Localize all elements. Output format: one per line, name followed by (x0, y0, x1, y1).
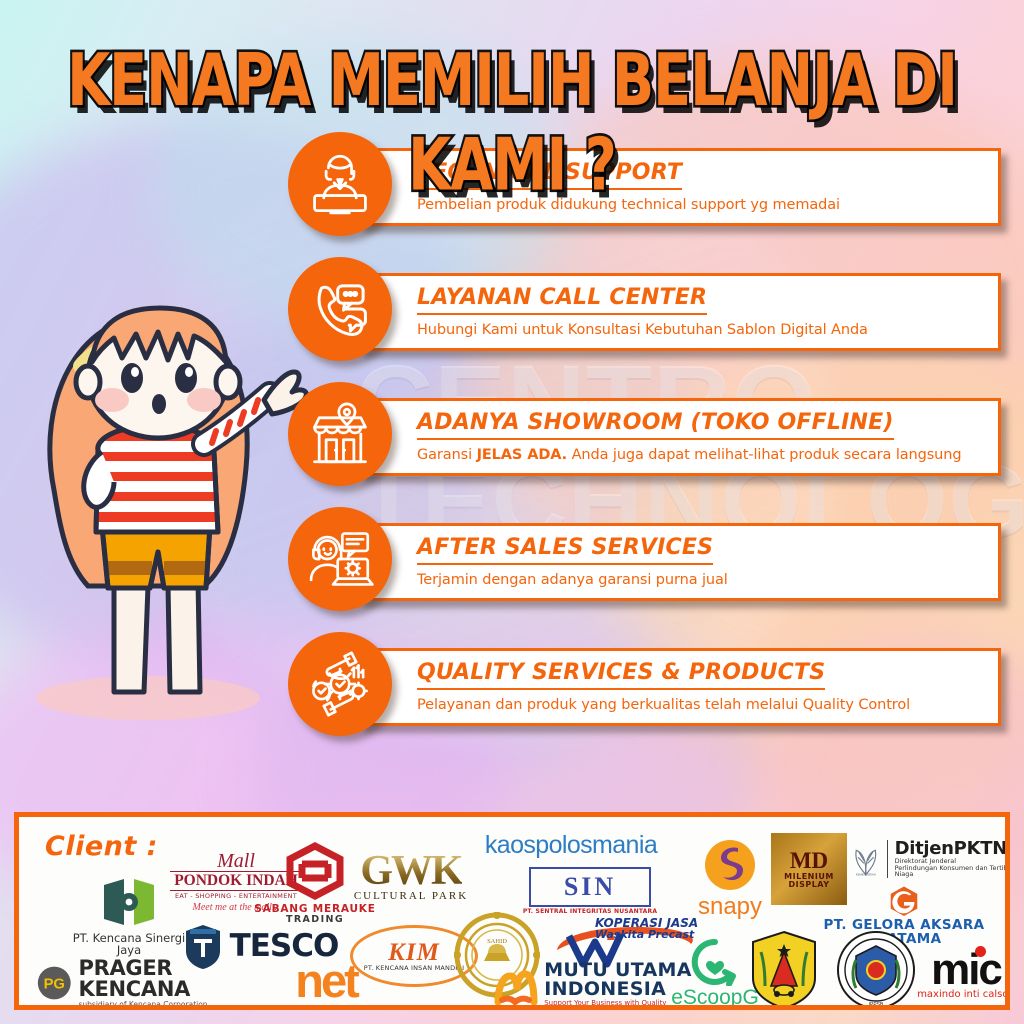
logo-wordmark: PRAGER KENCANA (79, 958, 253, 1001)
feature-subtitle: Pelayanan dan produk yang berkualitas te… (417, 697, 998, 713)
logo-wordmark: net (295, 960, 357, 1002)
svg-text:KEMENTERIAN: KEMENTERIAN (856, 873, 876, 877)
feature-card: LAYANAN CALL CENTER Hubungi Kami untuk K… (358, 273, 1001, 351)
logo-dot (975, 946, 986, 957)
logo-wordmark: GWK (360, 850, 461, 893)
logo-wordmark: SIN (564, 874, 616, 901)
logo-ippsb-education-seal[interactable]: IPPSB (831, 929, 921, 1010)
logo-wordmark-sub: CULTURAL PARK (354, 891, 468, 902)
logo-badge: PG (44, 977, 65, 993)
logo-mic-maxindo[interactable]: mic maxindo inti calson (915, 941, 1010, 1007)
logo-wordmark: kaospolosmania (485, 833, 657, 859)
logo-ditjen-pktn[interactable]: KEMENTERIAN DitjenPKTN Direktorat Jender… (851, 831, 1010, 887)
storefront-pin-icon (288, 382, 392, 486)
page-title: KENAPA MEMILIH BELANJA DI KAMI ? (0, 38, 1024, 207)
logo-wordmark: MD (790, 849, 828, 872)
feature-card: AFTER SALES SERVICES Terjamin dengan ada… (358, 523, 1001, 601)
logo-wordmark: mic (931, 945, 1001, 994)
after-sales-operator-icon (288, 507, 392, 611)
logo-kaospolosmania[interactable]: kaospolosmania (471, 829, 671, 863)
logo-wordmark: SAHID (487, 938, 507, 945)
logo-wordmark: KIM (388, 940, 440, 966)
logo-net-tv[interactable]: net (263, 953, 389, 1009)
feature-title: QUALITY SERVICES & PRODUCTS (417, 660, 825, 690)
feature-row[interactable]: QUALITY SERVICES & PRODUCTS Pelayanan da… (0, 632, 1024, 740)
logo-gwk-cultural-park[interactable]: GWK CULTURAL PARK (341, 831, 481, 921)
poster-title-area: KENAPA MEMILIH BELANJA DI KAMI ? (0, 38, 1024, 164)
feature-row[interactable]: AFTER SALES SERVICES Terjamin dengan ada… (0, 507, 1024, 615)
client-logos-panel: Client : PT. Kencana Sinergi Jaya Mall P… (14, 812, 1010, 1010)
logo-wordmark: DitjenPKTN (895, 840, 1010, 858)
feature-title: LAYANAN CALL CENTER (417, 285, 707, 315)
feature-subtitle: Hubungi Kami untuk Konsultasi Kebutuhan … (417, 322, 998, 338)
logo-prager-kencana[interactable]: PG PRAGER KENCANA subsidiary of Kencana … (37, 959, 253, 1007)
poster-canvas: CENTRO TECHNOLOGY KENAPA MEMILIH BELANJA… (0, 0, 1024, 1024)
client-logo-grid: PT. Kencana Sinergi Jaya Mall PONDOK IND… (19, 817, 1005, 1005)
feature-row[interactable]: LAYANAN CALL CENTER Hubungi Kami untuk K… (0, 257, 1024, 365)
feature-title: ADANYA SHOWROOM (TOKO OFFLINE) (417, 410, 894, 440)
logo-snapy[interactable]: snapy (677, 835, 783, 923)
logo-caption-2: Perlindungan Konsumen dan Tertib Niaga (895, 865, 1010, 878)
quality-hands-gear-icon (288, 632, 392, 736)
feature-subtitle: Terjamin dengan adanya garansi purna jua… (417, 572, 998, 588)
svg-text:IPPSB: IPPSB (869, 1002, 884, 1008)
logo-caption: subsidiary of Kencana Corporation (79, 1001, 253, 1009)
feature-subtitle: Garansi JELAS ADA. Anda juga dapat melih… (417, 447, 998, 463)
logo-jawa-timur-emblem[interactable] (741, 929, 827, 1010)
feature-card: QUALITY SERVICES & PRODUCTS Pelayanan da… (358, 648, 1001, 726)
feature-row[interactable]: ADANYA SHOWROOM (TOKO OFFLINE) Garansi J… (0, 382, 1024, 490)
phone-chat-icon (288, 257, 392, 361)
feature-card: ADANYA SHOWROOM (TOKO OFFLINE) Garansi J… (358, 398, 1001, 476)
feature-title: AFTER SALES SERVICES (417, 535, 713, 565)
feature-list: TECHNICAL SUPPORT Pembelian produk diduk… (0, 132, 1024, 757)
